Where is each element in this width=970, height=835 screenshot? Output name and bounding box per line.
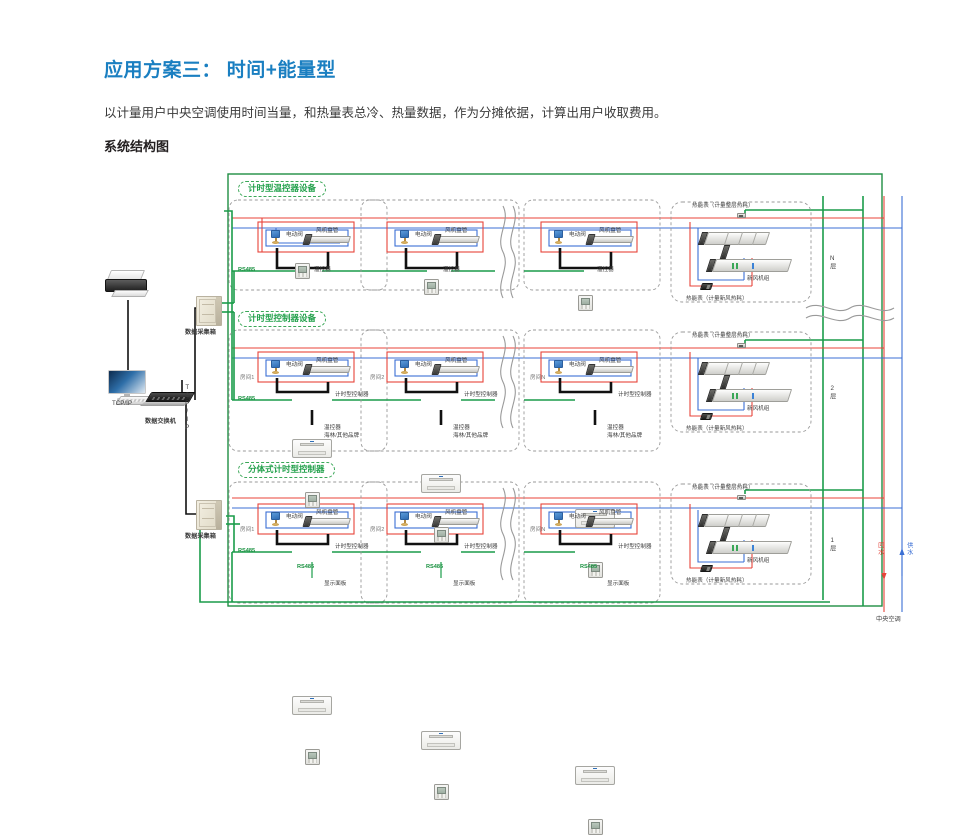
thermostat-label-2n: 温控器 (607, 425, 624, 432)
display-panel-icon-11 (305, 749, 320, 765)
rs485-label-12: RS485 (426, 564, 443, 571)
valve-label-1n: 电动阀 (569, 514, 586, 521)
electric-valve-icon-n2 (398, 230, 412, 244)
fan-coil-unit-icon-12 (435, 516, 479, 528)
thermostat-label-22: 温控器 (453, 425, 470, 432)
tcpip-label-vertical: TCP/IP (183, 384, 191, 420)
chiller-label: 中央空调 (876, 616, 901, 624)
thermostat-icon-21 (305, 492, 320, 508)
data-collection-cabinet-1-icon (196, 296, 222, 326)
group-tag-controller-devices: 计时型控制器设备 (238, 311, 326, 327)
rs485-label-n1: RS485 (238, 267, 255, 274)
floor-label-n: N层 (828, 255, 836, 281)
thermostat-label-21: 温控器 (324, 425, 341, 432)
heat-meter-ahu-label-1: 热能表（计量新风热耗） (686, 578, 748, 585)
fcu-label-11: 风机盘管 (316, 510, 338, 517)
thermostat-brand-label-21: 海林/其他品牌 (324, 433, 359, 440)
fan-coil-unit-icon-22 (435, 364, 479, 376)
heat-meter-icon-ahu-2 (700, 413, 713, 420)
rs485-label-11b: RS485 (297, 564, 314, 571)
fcu-label-n2: 风机盘管 (445, 228, 467, 235)
electric-valve-icon-21 (269, 360, 283, 374)
display-panel-icon-1n (588, 819, 603, 835)
display-panel-icon-12 (434, 784, 449, 800)
timing-controller-icon-22 (421, 474, 461, 493)
heat-meter-icon-ahu-n (700, 283, 713, 290)
electric-valve-icon-n1 (269, 230, 283, 244)
group-tag-split-controller: 分体式计时型控制器 (238, 462, 335, 478)
data-collection-cabinet-2-label: 数据采集箱 (185, 533, 216, 541)
valve-label-22: 电动阀 (415, 362, 432, 369)
heat-meter-floor-label-2: 热能表（计量整层热耗） (692, 333, 754, 340)
system-structure-diagram: .g { stroke:#1a9c4a; stroke-width:1.6; f… (0, 0, 970, 706)
return-water-label: 回水 (876, 542, 884, 568)
heat-meter-ahu-label-n: 热能表（计量新风热耗） (686, 296, 748, 303)
room-label-1-1: 房间1 (240, 527, 254, 534)
electric-valve-icon-1n (552, 512, 566, 526)
thermostat-brand-label-2n: 海林/其他品牌 (607, 433, 642, 440)
valve-label-n1: 电动阀 (286, 232, 303, 239)
thermostat-brand-label-22: 海林/其他品牌 (453, 433, 488, 440)
valve-label-n2: 电动阀 (415, 232, 432, 239)
timing-controller-label-11: 计时型控制器 (335, 544, 369, 551)
thermostat-icon-n2 (424, 279, 439, 295)
electric-valve-icon-22 (398, 360, 412, 374)
heat-meter-icon-floor-n (737, 213, 746, 218)
fcu-label-n1: 风机盘管 (316, 228, 338, 235)
thermostat-icon-22 (434, 527, 449, 543)
heat-meter-ahu-label-2: 热能表（计量新风热耗） (686, 426, 748, 433)
data-collection-cabinet-1-label: 数据采集箱 (185, 329, 216, 337)
floor-label-1: 1层 (828, 537, 836, 563)
display-panel-label-11: 显示面板 (324, 581, 346, 588)
fcu-label-nn: 风机盘管 (599, 228, 621, 235)
floor-label-2: 2层 (828, 385, 836, 411)
valve-label-2n: 电动阀 (569, 362, 586, 369)
diagram-lines: .g { stroke:#1a9c4a; stroke-width:1.6; f… (0, 0, 970, 706)
fan-coil-unit-icon-n2 (435, 234, 479, 246)
thermostat-icon-nn (578, 295, 593, 311)
timing-controller-label-21: 计时型控制器 (335, 392, 369, 399)
supply-water-label: 供水 (905, 542, 913, 568)
timing-controller-icon-21 (292, 439, 332, 458)
fan-coil-unit-icon-nn (589, 234, 633, 246)
heat-meter-icon-floor-1 (737, 495, 746, 500)
data-collection-cabinet-2-icon (196, 500, 222, 530)
display-panel-label-12: 显示面板 (453, 581, 475, 588)
fan-coil-unit-icon-21 (306, 364, 350, 376)
room-label-1-2: 房间2 (370, 527, 384, 534)
fcu-label-22: 风机盘管 (445, 358, 467, 365)
room-label-2-2: 房间2 (370, 375, 384, 382)
fan-coil-unit-icon-1n (589, 516, 633, 528)
display-panel-label-1n: 显示面板 (607, 581, 629, 588)
ahu-label-n: 新风机组 (747, 276, 769, 283)
timing-controller-icon-12 (421, 731, 461, 750)
electric-valve-icon-11 (269, 512, 283, 526)
timing-controller-label-1n: 计时型控制器 (618, 544, 652, 551)
timing-controller-label-12: 计时型控制器 (464, 544, 498, 551)
valve-label-12: 电动阀 (415, 514, 432, 521)
room-label-2-n: 房间N (530, 375, 545, 382)
heat-meter-icon-ahu-1 (700, 565, 713, 572)
fan-coil-unit-icon-n1 (306, 234, 350, 246)
fcu-label-12: 风机盘管 (445, 510, 467, 517)
heat-meter-icon-floor-2 (737, 343, 746, 348)
ahu-label-1: 新风机组 (747, 558, 769, 565)
heat-meter-floor-label-1: 热能表（计量整层热耗） (692, 485, 754, 492)
timing-controller-icon-1n (575, 766, 615, 785)
valve-label-11: 电动阀 (286, 514, 303, 521)
thermostat-label-n2: 温控器 (443, 267, 460, 274)
room-label-2-1: 房间1 (240, 375, 254, 382)
valve-label-21: 电动阀 (286, 362, 303, 369)
thermostat-label-n1: 温控器 (314, 267, 331, 274)
room-label-1-n: 房间N (530, 527, 545, 534)
tcpip-label-horizontal: TCP/IP (112, 400, 132, 408)
printer-icon (103, 270, 149, 300)
electric-valve-icon-nn (552, 230, 566, 244)
ahu-label-2: 新风机组 (747, 406, 769, 413)
timing-controller-label-2n: 计时型控制器 (618, 392, 652, 399)
electric-valve-icon-12 (398, 512, 412, 526)
rs485-label-11: RS485 (238, 548, 255, 555)
rs485-label-1n: RS485 (580, 564, 597, 571)
fcu-label-2n: 风机盘管 (599, 358, 621, 365)
fcu-label-1n: 风机盘管 (599, 510, 621, 517)
fcu-label-21: 风机盘管 (316, 358, 338, 365)
valve-label-nn: 电动阀 (569, 232, 586, 239)
electric-valve-icon-2n (552, 360, 566, 374)
heat-meter-floor-label-n: 热能表（计量整层热耗） (692, 203, 754, 210)
thermostat-icon-n1 (295, 263, 310, 279)
timing-controller-label-22: 计时型控制器 (464, 392, 498, 399)
network-switch-label: 数据交换机 (145, 418, 176, 426)
rs485-label-21: RS485 (238, 396, 255, 403)
group-tag-thermostat-devices: 计时型温控器设备 (238, 181, 326, 197)
fan-coil-unit-icon-11 (306, 516, 350, 528)
thermostat-label-nn: 温控器 (597, 267, 614, 274)
fan-coil-unit-icon-2n (589, 364, 633, 376)
